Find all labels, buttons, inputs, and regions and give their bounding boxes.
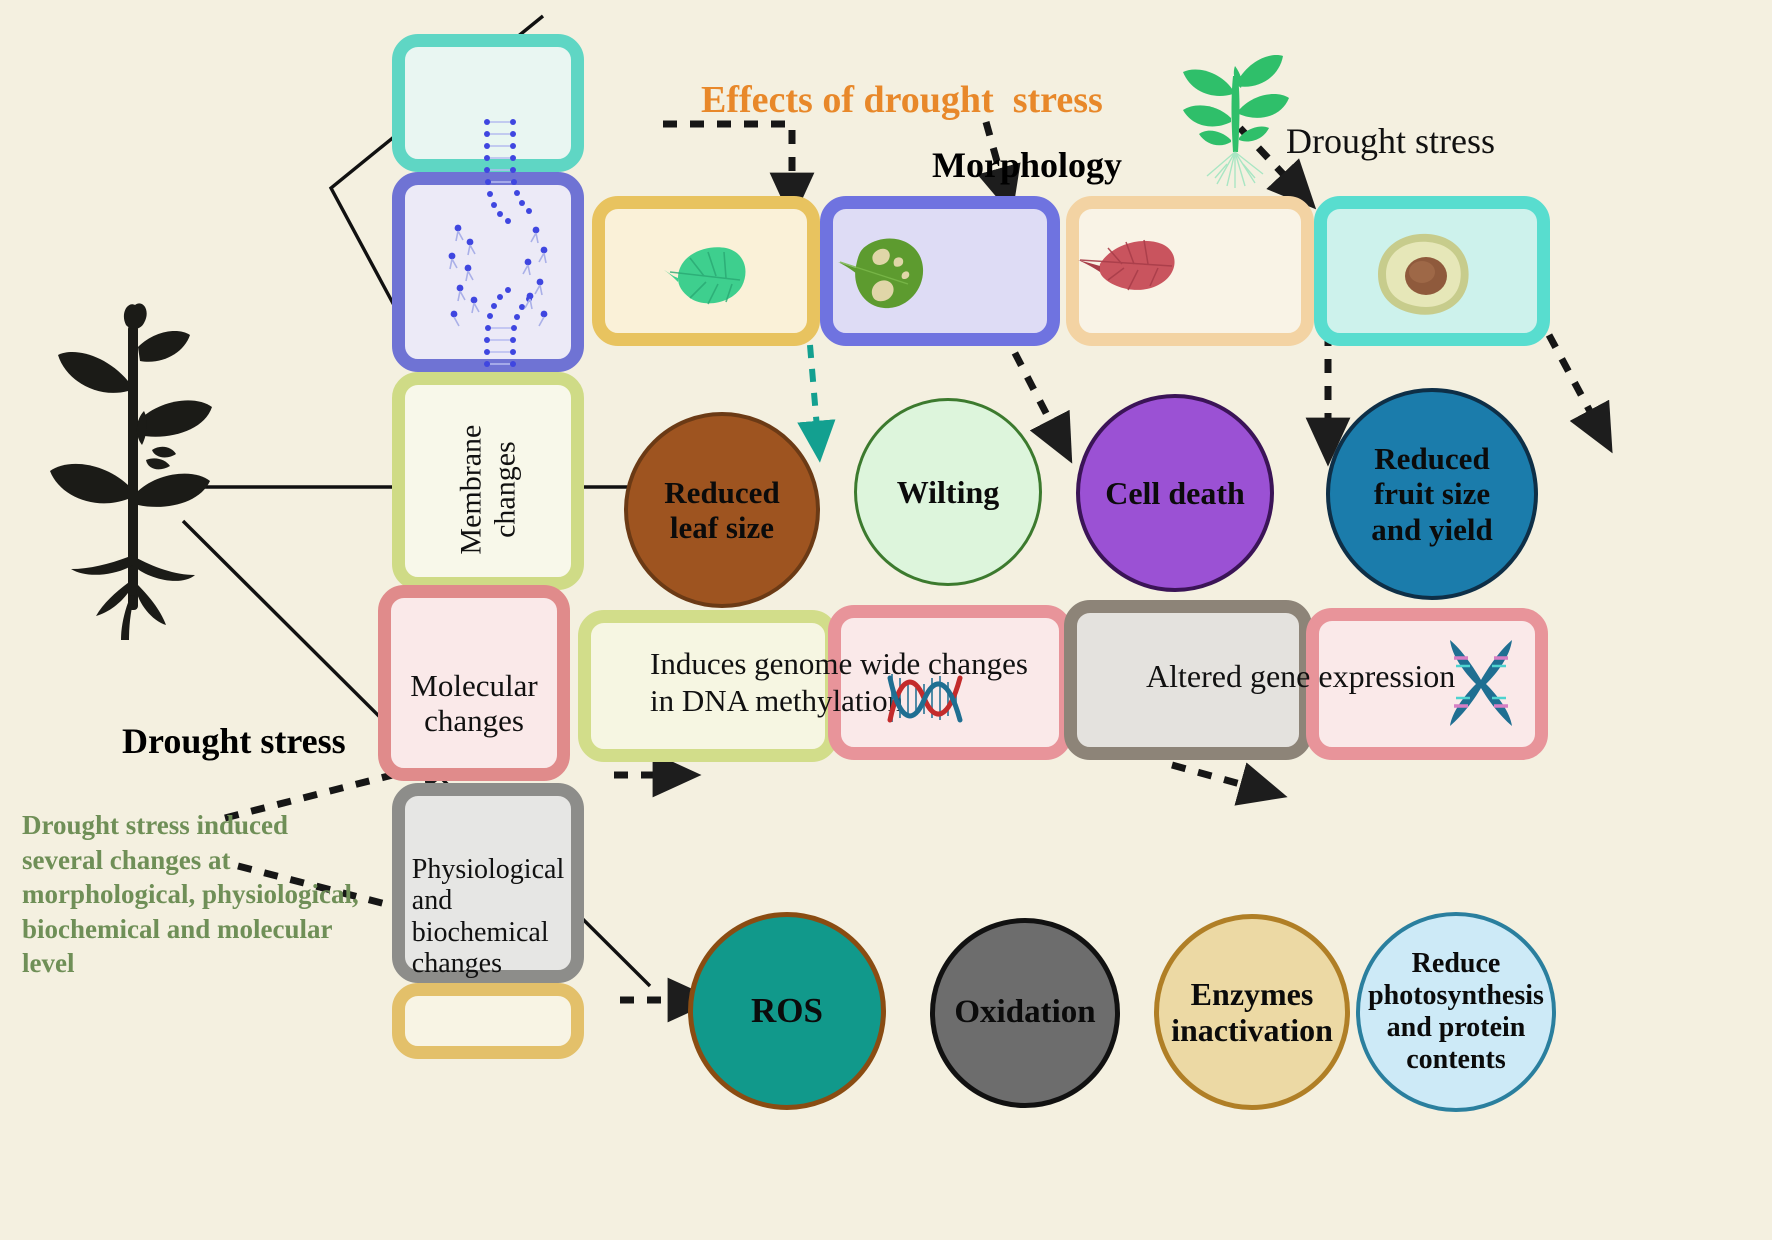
cell-death-circle[interactable]: Cell death bbox=[1076, 394, 1274, 592]
drought-stress-top-label: Drought stress bbox=[1286, 120, 1495, 162]
chromosome-icon bbox=[1440, 636, 1522, 728]
reduced-fruit-size-label: Reduced fruit size and yield bbox=[1363, 441, 1500, 547]
morphology-label: Morphology bbox=[932, 144, 1122, 186]
plant-silhouette-icon bbox=[28, 295, 238, 640]
healthy-leaf-icon bbox=[660, 240, 756, 312]
physio-biochem-label: Physiological and biochemical changes bbox=[402, 854, 574, 979]
cell-death-label: Cell death bbox=[1097, 475, 1253, 511]
reduced-fruit-size-circle[interactable]: Reduced fruit size and yield bbox=[1326, 388, 1538, 600]
dna-helix-icon bbox=[886, 668, 974, 730]
physio-biochem-box[interactable]: Physiological and biochemical changes bbox=[392, 783, 584, 983]
wilting-label: Wilting bbox=[889, 474, 1008, 510]
reduced-leaf-size-circle[interactable]: Reduced leaf size bbox=[624, 412, 820, 608]
necrotic-leaf-icon bbox=[1078, 232, 1190, 298]
membrane-changes-label: Membrane changes bbox=[454, 420, 521, 560]
arrow-healthyleaf-to-reducedleaf bbox=[810, 345, 818, 440]
ros-circle[interactable]: ROS bbox=[688, 912, 886, 1110]
arrow-fruitbox-to-reducedfruit bbox=[1549, 335, 1600, 430]
oxidation-label: Oxidation bbox=[946, 994, 1103, 1032]
reduced-leaf-size-label: Reduced leaf size bbox=[656, 475, 787, 546]
page-title: Effects of drought stress bbox=[701, 78, 1103, 122]
reduce-photosynthesis-label: Reduce photosynthesis and protein conten… bbox=[1360, 948, 1552, 1076]
spotted-leaf-icon bbox=[838, 228, 936, 318]
arrow-title-to-healthyleaf bbox=[663, 124, 792, 195]
drought-stress-left-label: Drought stress bbox=[122, 720, 346, 762]
fruit-cross-section-icon bbox=[1358, 226, 1488, 322]
green-summary-note: Drought stress induced several changes a… bbox=[22, 808, 362, 981]
molecular-changes-box[interactable]: Molecular changes bbox=[378, 585, 570, 781]
molecular-changes-label: Molecular changes bbox=[400, 669, 547, 738]
bottom-stub-box bbox=[392, 983, 584, 1059]
enzymes-inactivation-circle[interactable]: Enzymes inactivation bbox=[1154, 914, 1350, 1110]
ros-label: ROS bbox=[743, 991, 831, 1031]
reduce-photosynthesis-circle[interactable]: Reduce photosynthesis and protein conten… bbox=[1356, 912, 1556, 1112]
lipid-bilayer-icon bbox=[440, 110, 560, 400]
wilting-circle[interactable]: Wilting bbox=[854, 398, 1042, 586]
arrow-methylation-to-genes bbox=[1172, 765, 1262, 790]
enzymes-inactivation-label: Enzymes inactivation bbox=[1163, 976, 1341, 1049]
oxidation-circle[interactable]: Oxidation bbox=[930, 918, 1120, 1108]
diagram-canvas: Effects of drought stress Morphology Dro… bbox=[0, 0, 1772, 1240]
altered-gene-expression-label: Altered gene expression bbox=[1146, 658, 1455, 695]
